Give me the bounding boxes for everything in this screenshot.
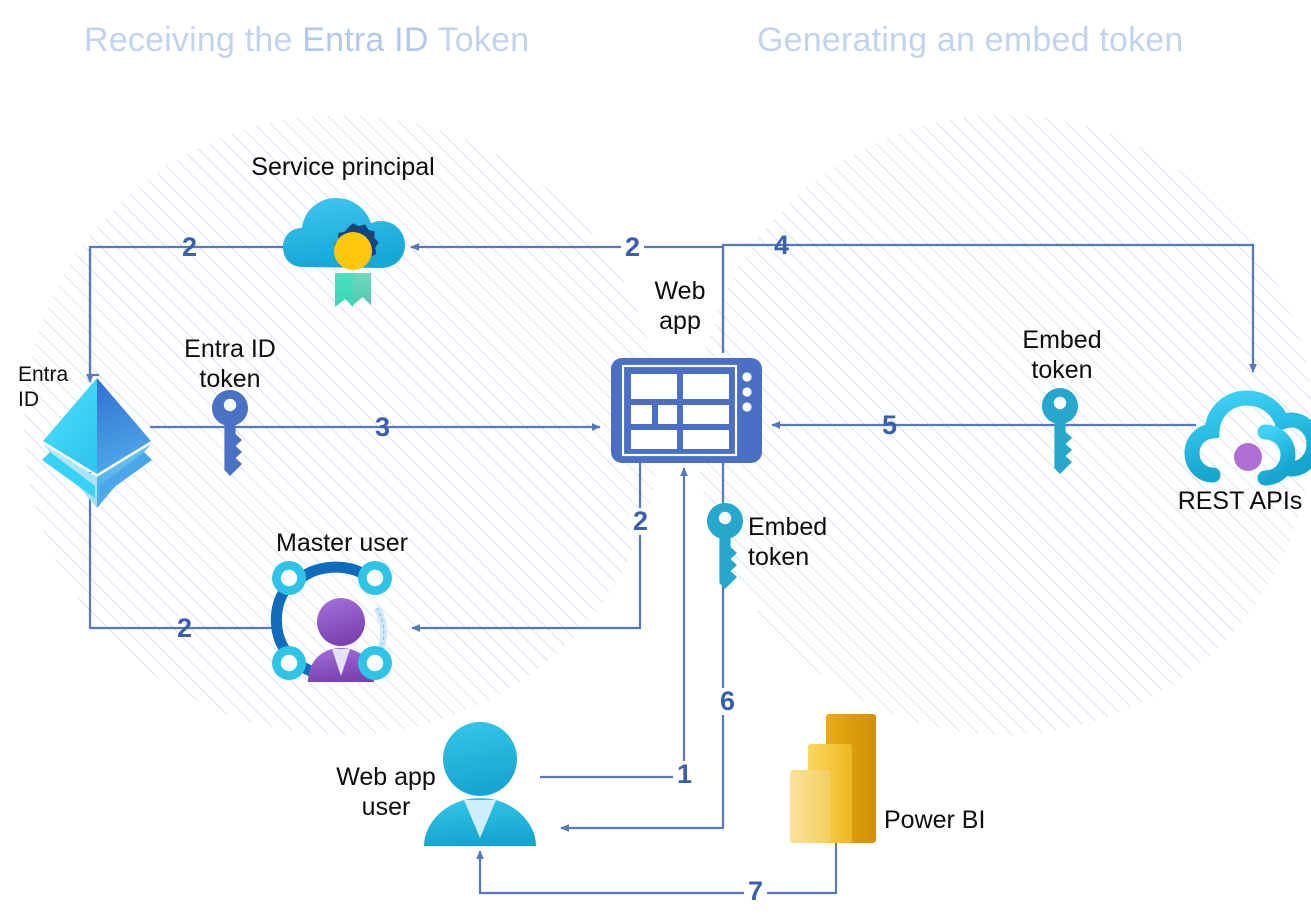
label-web-app: Web app — [645, 276, 715, 336]
step-number-2d: 2 — [173, 615, 196, 642]
label-entra-id: Entra ID — [18, 362, 88, 412]
step-number-5: 5 — [878, 412, 901, 439]
connector-step-7 — [480, 843, 836, 893]
diagram-svg — [0, 0, 1311, 921]
label-embed-token-right: Embed token — [1012, 325, 1112, 385]
label-web-app-user: Web app user — [316, 762, 456, 822]
step-number-6: 6 — [716, 688, 739, 715]
step-number-2c: 2 — [629, 508, 652, 535]
title-left-pre: Receiving the — [84, 21, 302, 59]
step-number-1: 1 — [673, 761, 696, 788]
title-left: Receiving the Entra ID Token — [84, 21, 529, 60]
powerbi-bars-icon — [790, 714, 876, 843]
step-number-2a: 2 — [621, 234, 644, 261]
tablet-icon — [611, 358, 762, 463]
label-service-principal: Service principal — [245, 152, 441, 182]
step-number-3: 3 — [371, 414, 394, 441]
label-rest-apis: REST APIs — [1175, 486, 1305, 516]
title-right: Generating an embed token — [757, 21, 1184, 60]
label-entra-id-token: Entra ID token — [180, 334, 280, 394]
step-number-7: 7 — [744, 878, 767, 905]
step-number-4: 4 — [770, 232, 793, 259]
label-master-user: Master user — [274, 528, 410, 558]
title-left-bold: Entra ID — [302, 21, 428, 59]
title-left-post: Token — [429, 21, 530, 59]
label-power-bi: Power BI — [884, 805, 1004, 835]
diagram-canvas: Receiving the Entra ID Token Generating … — [0, 0, 1311, 921]
label-embed-token-center: Embed token — [748, 512, 858, 572]
step-number-2b: 2 — [178, 234, 201, 261]
